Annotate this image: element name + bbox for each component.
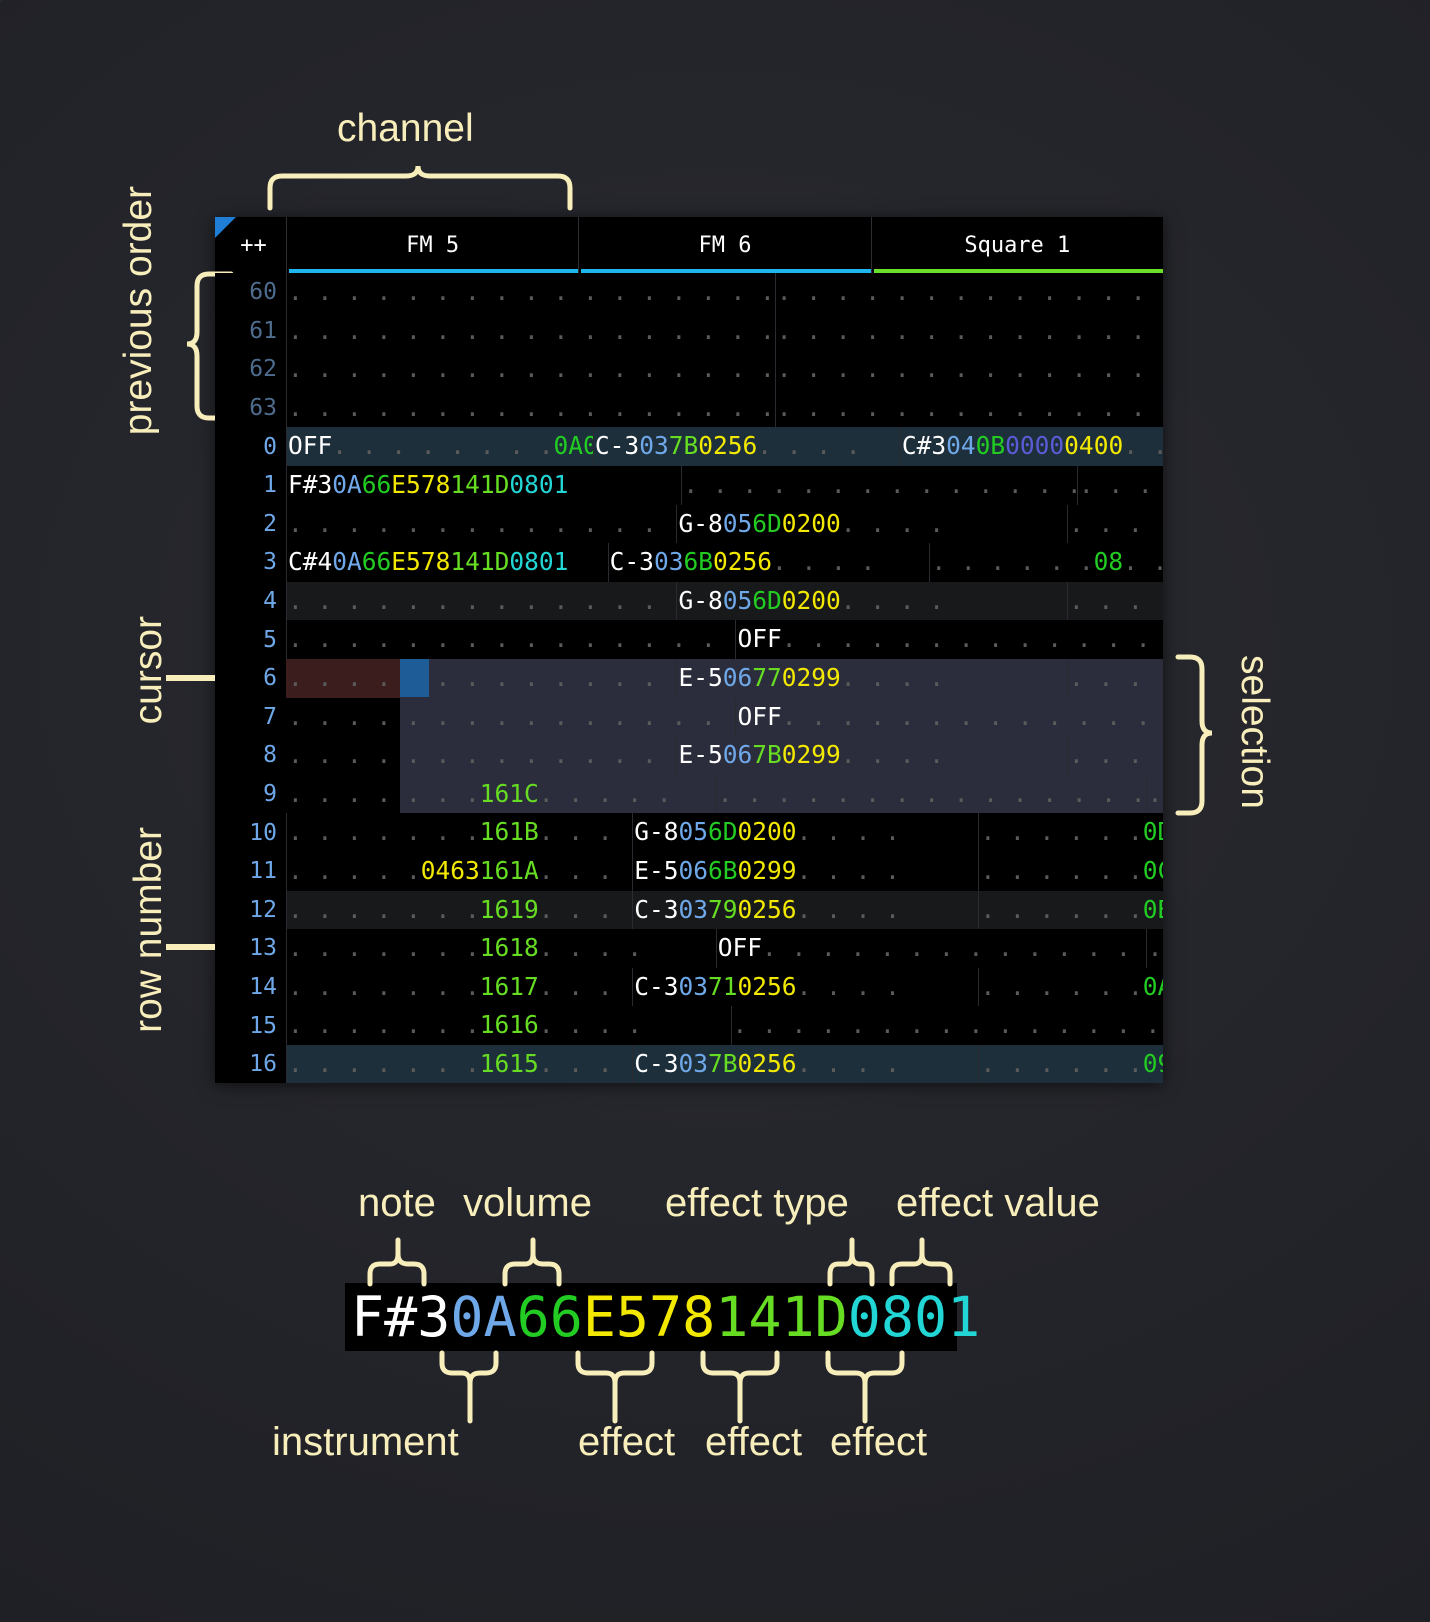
channel-cell-3[interactable]: . . . . . .09. . . . . . . . [978,1045,1163,1083]
cell-segment-ins: 0A [332,547,362,576]
channel-cell-3[interactable]: . . . . . .0A. . . . . . . . [1077,466,1163,505]
row-number: 6 [215,659,286,698]
row-cells: . . . . . . .1616. . . .. . . . . . . . … [286,1006,1163,1045]
cell-text: C#3040B00000400. . . . [901,434,1163,459]
cell-segment-dim: . . . . . . . . . . . . . . . . . [288,586,676,615]
cell-segment-note: C-3 [634,972,678,1001]
channel-cell-1[interactable]: OFF. . . . . . . .0A00 [286,427,593,466]
legend-segment-6: 1D [782,1285,848,1349]
channel-cell-2[interactable]: . . . . . . . . . . . . . . . . . [681,466,1076,505]
channel-cell-1[interactable]: . . . . . . .1617. . . . [286,968,632,1007]
cell-segment-dim: . . . . . . . [288,779,480,808]
cell-text: F#30A66E578141D0801 [287,473,568,498]
row-cells: . . . . . . . . . . . . . . . . .G-8056D… [286,582,1163,621]
channel-cell-3[interactable]: . . . . . .0C. . . . . . . . [978,852,1163,891]
cell-segment-fx2: 161C [480,779,539,808]
corner-label: ++ [240,233,267,258]
channel-cell-2[interactable]: OFF. . . . . . . . . . . . . . [716,929,1146,968]
cell-segment-dim: . . . . . . . . . . . . . . [762,933,1146,962]
cell-text: . . . . . . . . . . . . . . . . . [287,512,676,537]
cell-text: . . . . . . .1615. . . . [287,1052,632,1077]
channel-cell-1[interactable]: . . . . . . . . . . . . . . . . . [286,582,676,621]
channel-cell-3[interactable]: . . . . . . . . . . . . . . . . . [1146,929,1163,968]
row-cells: . . . . . . .1619. . . .C-303790256. . .… [286,891,1163,930]
cell-segment-dim: . . . . . . . . . . . . . . . . . [718,779,1146,808]
row-number: 4 [215,582,286,621]
row-cells: . . . . . . . . . . . . . . . . .. . . .… [286,273,1163,312]
channel-cell-2[interactable]: G-8056D0200. . . . [676,505,1066,544]
channel-header-3[interactable]: Square 1 [871,217,1163,273]
row-cells: OFF. . . . . . . .0A00C-3037B0256. . . .… [286,427,1163,466]
cell-segment-dim: . . . . [539,895,632,924]
channel-cell-2[interactable]: OFF. . . . . . . . . . . . . . [735,698,1163,737]
channel-cell-1[interactable]: . . . . . . . . . . . . . . . . . [286,273,775,312]
cell-segment-fx2: 14 [450,547,480,576]
cell-segment-fx1: 99 [767,856,797,885]
pattern-row[interactable]: 8. . . . . . . . . . . . . . . . .E-5067… [215,736,1163,775]
cell-segment-fx1: 56 [767,972,797,1001]
channel-cell-2[interactable]: C-3036B0256. . . . [608,543,930,582]
cell-segment-fx3: 08 [509,470,539,499]
cell-segment-vol: 0C [1143,856,1163,885]
cell-segment-fx3: 01 [539,547,569,576]
channel-cell-2[interactable]: . . . . . . . . . . . . . . . . . [731,1006,1163,1045]
pattern-row[interactable]: 16. . . . . . .1615. . . .C-3037B0256. .… [215,1045,1163,1083]
cell-segment-fx1: 02 [738,817,768,846]
cell-segment-dim: . . . . . . . . . . . . . . [782,624,1163,653]
channel-cell-3[interactable]: . . . . . .07. . . . . . . . [1067,582,1163,621]
pattern-row[interactable]: 7. . . . . . . . . . . . . . . . .OFF. .… [215,698,1163,737]
cell-segment-dim: . . . . . . . . . . . . . . . . . [683,470,1076,499]
pattern-row[interactable]: 9. . . . . . .161C. . . . .. . . . . . .… [215,775,1163,814]
cell-text: . . . . . .0C. . . . . . . . [1147,782,1163,807]
row-number: 2 [215,505,286,544]
channel-cell-3[interactable]: . . . . . .090464. . . . . . [1067,659,1163,698]
cell-segment-note: C-3 [634,895,678,924]
cell-segment-fx1: 00 [1094,431,1124,460]
pattern-row[interactable]: 11. . . . .0463161A. . . .E-5066B0299. .… [215,852,1163,891]
cell-segment-dim: . . . . . . . . . . . . . . . . . [288,316,775,345]
annotation-channel: channel [337,107,474,151]
cell-segment-dim: . . . . . . . . . . . . . . . . . [288,702,735,731]
channel-cell-3[interactable]: . . . . . .0D. . . . . . . . [978,813,1163,852]
channel-cell-3[interactable]: . . . . . .0B. . . . . . . . [978,891,1163,930]
cell-segment-note: G-8 [678,586,722,615]
cell-segment-fx1: 56 [728,431,758,460]
cell-segment-dim: . . . . . . [980,972,1142,1001]
row-cells: . . . . . . .161C. . . . .. . . . . . . … [286,775,1163,814]
cell-text: . . . . . . . . . . . . . . . . . [1147,936,1163,961]
legend-label-effect-type: effect type [665,1181,849,1226]
cell-segment-note: G-8 [678,509,722,538]
cell-text: . . . . . . . . . . . . . . . . . [717,782,1146,807]
cell-segment-note: OFF [737,624,781,653]
cell-segment-note: OFF [288,431,332,460]
channel-cell-2[interactable]: OFF. . . . . . . . . . . . . . [735,620,1163,659]
channel-cell-2[interactable]: . . . . . . . . . . . . . . . . . [775,350,1163,389]
cell-segment-dim: . . . . . . . [288,817,480,846]
pattern-editor[interactable]: ++ FM 5FM 6Square 1 60. . . . . . . . . … [215,217,1163,1083]
cell-segment-fx1: 02 [738,972,768,1001]
row-number: 61 [215,312,286,351]
cell-segment-dim: . . . . [539,817,632,846]
pattern-corner-toggle[interactable]: ++ [215,217,286,273]
channel-cell-3[interactable]: . . . . . .0B. . . . . . . . [1067,736,1163,775]
channel-cell-1[interactable]: . . . . . . . . . . . . . . . . . [286,312,775,351]
cell-segment-note: F#3 [288,470,332,499]
legend-label-instrument: instrument [272,1420,459,1465]
cell-segment-vol: 0B [1143,895,1163,924]
channel-cell-3[interactable]: . . . . . .0C. . . . . . . . [1146,775,1163,814]
cell-text: . . . . .0463161A. . . . [287,859,632,884]
cell-segment-dim: . . . . . . . [288,933,480,962]
channel-cell-2[interactable]: C-3037B0256. . . . [593,427,900,466]
cell-segment-fx3: 01 [539,470,569,499]
channel-cell-1[interactable]: . . . . . . . . . . . . . . . . . [286,389,775,428]
row-number: 11 [215,852,286,891]
cell-text: . . . . . . . . . . . . . . . . . [682,473,1076,498]
cell-segment-fx1: 02 [698,431,728,460]
channel-cell-2[interactable]: E-5066B0299. . . . [632,852,978,891]
row-cells: . . . . .0463161A. . . .E-5066B0299. . .… [286,852,1163,891]
cell-segment-ins: 0A [332,470,362,499]
channel-cell-3[interactable]: . . . . . .0A. . . . . . . . [978,968,1163,1007]
cell-segment-dim: . . . . . . . . . . . . . . . . . [288,354,775,383]
pattern-row[interactable]: 6. . . . . . . . . . . . . . . . .E-5067… [215,659,1163,698]
cell-segment-dim: . . . . . . [1069,586,1163,615]
row-number: 8 [215,736,286,775]
cell-segment-dim: . . . . . . . . . . . . . . . . . [777,277,1163,306]
legend-label-effect-1: effect [578,1420,675,1465]
cell-segment-fx1: 78 [421,547,451,576]
cell-text: . . . . . . . . . . . . . . . . . [287,396,775,421]
cell-segment-dim: . . . . . . . . . . . . . . . . . [777,354,1163,383]
pattern-row[interactable]: 12. . . . . . .1619. . . .C-303790256. .… [215,891,1163,930]
brace-instrument [440,1351,498,1423]
pattern-rows[interactable]: 60. . . . . . . . . . . . . . . . .. . .… [215,273,1163,1083]
row-number: 15 [215,1006,286,1045]
cell-segment-dim: . . . . . . . [288,895,480,924]
cell-text: . . . . . . .1616. . . . [287,1013,642,1038]
pattern-row[interactable]: 15. . . . . . .1616. . . .. . . . . . . … [215,1006,1163,1045]
cell-segment-note: E-5 [634,856,678,885]
channel-cell-2[interactable]: . . . . . . . . . . . . . . . . . [716,775,1146,814]
cell-text: OFF. . . . . . . .0A00 [287,434,593,459]
legend-label-note: note [358,1181,436,1226]
cell-text: . . . . . . . . . . . . . . . . . [287,319,775,344]
cell-segment-dim: . . . . . . . . . . . . . . . . . [1148,933,1163,962]
row-number: 12 [215,891,286,930]
legend-label-effect-3: effect [830,1420,927,1465]
cell-segment-dim: . . . . [539,856,632,885]
cell-text: . . . . . . .1618. . . . [287,936,642,961]
cell-text: . . . . . . . . . . . . . . . . . [776,396,1163,421]
row-cells: . . . . . . . . . . . . . . . . .. . . .… [286,312,1163,351]
cell-segment-fx1: 00 [811,586,841,615]
cell-segment-fx2: 1D [480,547,510,576]
row-number: 1 [215,466,286,505]
row-number: 62 [215,350,286,389]
channel-cell-1[interactable]: . . . . . . .161C. . . . . [286,775,716,814]
cell-segment-fx1: 0463 [421,856,480,885]
pattern-row[interactable]: 3C#40A66E578141D0801C-3036B0256. . . .. … [215,543,1163,582]
pattern-row[interactable]: 62. . . . . . . . . . . . . . . . .. . .… [215,350,1163,389]
cell-segment-fx2: 1D [480,470,510,499]
row-number: 0 [215,427,286,466]
cell-text: . . . . . .0D. . . . . . . . [979,820,1163,845]
channel-cell-3[interactable]: . . . . . .08. . . . . . . . [929,543,1163,582]
channel-cell-1[interactable]: . . . . . . . . . . . . . . . . . [286,350,775,389]
cell-segment-dim: . . . . [539,972,632,1001]
brace-selection [1176,655,1224,815]
pattern-row[interactable]: 1F#30A66E578141D0801. . . . . . . . . . … [215,466,1163,505]
cell-text: . . . . . . .161C. . . . . [287,782,672,807]
cell-text: C#40A66E578141D0801 [287,550,568,575]
cell-segment-vol: 0D [1143,817,1163,846]
channel-cell-2[interactable]: C-3037B0256. . . . [632,1045,978,1083]
cell-text: OFF. . . . . . . . . . . . . . [736,705,1163,730]
cell-segment-dim: . . . . . . . . . . . . . . . . . [733,1010,1163,1039]
cell-segment-dim: . . . . . . [1069,740,1163,769]
channel-cell-1[interactable]: . . . . .0463161A. . . . [286,852,632,891]
pattern-row[interactable]: 2. . . . . . . . . . . . . . . . .G-8056… [215,505,1163,544]
cell-segment-vol: 6D [752,586,782,615]
cell-text: . . . . . . .1619. . . . [287,898,632,923]
channel-cell-1[interactable]: . . . . . . . . . . . . . . . . . [286,698,735,737]
cell-segment-note: C#3 [902,431,946,460]
cell-segment-fx1: 02 [738,895,768,924]
cell-text: G-8056D0200. . . . [677,512,944,537]
row-cells: . . . . . . .1615. . . .C-3037B0256. . .… [286,1045,1163,1083]
pattern-row[interactable]: 4. . . . . . . . . . . . . . . . .G-8056… [215,582,1163,621]
cell-segment-fx2: 79 [708,895,738,924]
legend-segment-2: 66 [517,1285,583,1349]
cell-segment-dim: . . . . . . . . . . . . . . . . . [288,663,676,692]
cell-text: . . . . . . . . . . . . . . . . . [287,666,676,691]
cell-segment-dim: . . . . [757,431,860,460]
cell-segment-note: OFF [718,933,762,962]
row-cells: . . . . . . .161B. . . .G-8056D0200. . .… [286,813,1163,852]
row-cells: C#40A66E578141D0801C-3036B0256. . . .. .… [286,543,1163,582]
channel-cell-1[interactable]: . . . . . . .1615. . . . [286,1045,632,1083]
channel-cell-2[interactable]: G-8056D0200. . . . [632,813,978,852]
row-number: 63 [215,389,286,428]
cell-text: E-5067B0299. . . . [677,743,944,768]
cell-segment-ins: 03 [679,1049,709,1078]
pattern-row[interactable]: 10. . . . . . .161B. . . .G-8056D0200. .… [215,813,1163,852]
cell-text: C-3036B0256. . . . [609,550,876,575]
pattern-row[interactable]: 60. . . . . . . . . . . . . . . . .. . .… [215,273,1163,312]
cell-segment-fx1: 02 [738,1049,768,1078]
cell-text: . . . . . .0A. . . . . . . . [979,975,1163,1000]
cell-segment-fx2: 71 [708,972,738,1001]
cell-text: E-506770299. . . . [677,666,944,691]
cell-segment-dim: . . . . . . . . . . . . . . . . . [777,393,1163,422]
legend-label-effect-value: effect value [896,1181,1100,1226]
legend-segment-7: 08 [848,1285,914,1349]
channel-cell-1[interactable]: . . . . . . .161B. . . . [286,813,632,852]
cell-segment-dim: . . . . . . . . . . . . . . . . . [288,740,676,769]
cell-segment-fx2: 1616 [480,1010,539,1039]
cell-segment-fx2: 7B [708,1049,738,1078]
cell-segment-vol: 0A [554,431,584,460]
cell-segment-dim: . . . . . [539,779,672,808]
cell-segment-note: G-8 [634,817,678,846]
legend-segment-1: 0A [450,1285,516,1349]
cell-segment-dim: . . . . . . [1069,509,1163,538]
cell-text: . . . . . .0A. . . . . . . . [1078,473,1163,498]
cell-segment-vol: 0A [1143,972,1163,1001]
channel-cell-3[interactable]: C#3040B00000400. . . . [900,427,1163,466]
cell-segment-dim: . . . . [539,1049,632,1078]
legend-segment-0: F#3 [351,1285,450,1349]
channel-cell-1[interactable]: . . . . . . .1618. . . . [286,929,716,968]
cell-segment-ins: 05 [723,509,753,538]
cell-segment-fx2: 7B [752,740,782,769]
cell-segment-note: E-5 [678,663,722,692]
brace-channel [268,160,572,210]
cell-text: . . . . . .09. . . . . . . . [1068,512,1163,537]
cell-segment-vol: 0B [976,431,1006,460]
cell-text: . . . . . . . . . . . . . . . . . [287,705,735,730]
channel-header-row: ++ FM 5FM 6Square 1 [215,217,1163,273]
channel-cell-2[interactable]: G-8056D0200. . . . [676,582,1066,621]
legend-row-sample: F#30A66E578141D0801 [345,1283,957,1351]
cell-segment-fx1: 02 [782,509,812,538]
channel-cell-1[interactable]: . . . . . . . . . . . . . . . . . [286,505,676,544]
channel-header-2[interactable]: FM 6 [578,217,870,273]
cell-segment-dim: . . . . [539,933,642,962]
pattern-row[interactable]: 61. . . . . . . . . . . . . . . . .. . .… [215,312,1163,351]
annotation-selection: selection [1232,655,1276,809]
cell-segment-fx1: 02 [782,663,812,692]
channel-cell-1[interactable]: . . . . . . .1619. . . . [286,891,632,930]
cell-segment-fx1: 04 [1064,431,1094,460]
cell-segment-ins: 03 [679,972,709,1001]
cell-segment-dim: . . . . . . . [288,1010,480,1039]
cell-text: . . . . . .07. . . . . . . . [1068,589,1163,614]
cell-segment-fx3: 08 [509,547,539,576]
cell-segment-dim: . . . . [797,972,900,1001]
cell-segment-ins: 06 [679,856,709,885]
channel-cell-1[interactable]: F#30A66E578141D0801 [286,466,681,505]
row-number: 16 [215,1045,286,1083]
row-cells: . . . . . . . . . . . . . . . . .E-5067B… [286,736,1163,775]
legend-segment-5: 14 [715,1285,781,1349]
cell-segment-fx2: 1615 [480,1049,539,1078]
row-cells: . . . . . . . . . . . . . . . . .OFF. . … [286,620,1163,659]
channel-cell-1[interactable]: . . . . . . . . . . . . . . . . . [286,620,735,659]
channel-cell-3[interactable]: . . . . . .09. . . . . . . . [1067,505,1163,544]
cell-text: G-8056D0200. . . . [677,589,944,614]
legend-label-effect-2: effect [705,1420,802,1465]
pattern-row[interactable]: 14. . . . . . .1617. . . .C-303710256. .… [215,968,1163,1007]
channel-cell-2[interactable]: . . . . . . . . . . . . . . . . . [775,389,1163,428]
cell-segment-fx2: 1618 [480,933,539,962]
row-number: 5 [215,620,286,659]
channel-cell-1[interactable]: C#40A66E578141D0801 [286,543,608,582]
cell-segment-dim: . . . . [841,740,944,769]
cell-segment-dim: . . . . [539,1010,642,1039]
corner-triangle-icon [215,217,236,238]
cell-text: . . . . . . . . . . . . . . . . . [287,627,735,652]
row-number: 9 [215,775,286,814]
channel-cell-2[interactable]: . . . . . . . . . . . . . . . . . [775,273,1163,312]
cell-segment-vol: 66 [362,470,392,499]
cell-segment-note: C#4 [288,547,332,576]
channel-header-1[interactable]: FM 5 [286,217,578,273]
pattern-row[interactable]: 0OFF. . . . . . . .0A00C-3037B0256. . . … [215,427,1163,466]
pattern-row[interactable]: 63. . . . . . . . . . . . . . . . .. . .… [215,389,1163,428]
row-cells: . . . . . . .1618. . . .OFF. . . . . . .… [286,929,1163,968]
cell-segment-dim: . . . . . . [931,547,1093,576]
cell-segment-dim: . . . . [797,895,900,924]
cell-segment-fx1: 02 [713,547,743,576]
cell-segment-dim: . . . . . . [980,1049,1142,1078]
cell-segment-fx2: 14 [450,470,480,499]
cell-segment-ins: 05 [723,586,753,615]
cell-segment-dim: . . . . . . . . . . . . . . . . . [288,393,775,422]
brace-effect-1 [576,1351,654,1423]
row-cells: . . . . . . . . . . . . . . . . .OFF. . … [286,698,1163,737]
cell-segment-fx1: 02 [782,740,812,769]
legend-label-volume: volume [463,1181,592,1226]
cell-segment-ins: 03 [639,431,669,460]
channel-cell-2[interactable]: C-303790256. . . . [632,891,978,930]
row-number: 14 [215,968,286,1007]
cell-segment-dim: . . . . . . . . . . . . . . . . . [777,316,1163,345]
cell-text: . . . . . . .161B. . . . [287,820,632,845]
cell-segment-pan: 00 [1035,431,1065,460]
cell-segment-dim: . . . . . . . . . . . . . . . . . [288,509,676,538]
cell-segment-dim: . . . . . . [1148,779,1163,808]
cell-segment-dim: . . . . . . . . . . . . . . [782,702,1163,731]
channel-name: FM 5 [406,233,459,258]
channel-cell-2[interactable]: E-5067B0299. . . . [676,736,1066,775]
brace-effect-2 [701,1351,779,1423]
cell-text: . . . . . .0B. . . . . . . . [1068,743,1163,768]
cell-text: . . . . . . . . . . . . . . . . . [287,589,676,614]
cell-segment-fx2: 1619 [480,895,539,924]
cell-text: . . . . . . . . . . . . . . . . . [776,357,1163,382]
edit-cursor[interactable] [400,659,429,697]
cell-segment-ins: 06 [723,663,753,692]
channel-cell-2[interactable]: . . . . . . . . . . . . . . . . . [775,312,1163,351]
cell-text: . . . . . .0B. . . . . . . . [979,898,1163,923]
legend-segment-3: E5 [583,1285,649,1349]
cell-segment-dim: . . . . . . [980,817,1142,846]
cell-text: . . . . . . . . . . . . . . . . . [287,743,676,768]
channel-cell-2[interactable]: C-303710256. . . . [632,968,978,1007]
legend-segment-4: 78 [649,1285,715,1349]
cell-text: G-8056D0200. . . . [633,820,900,845]
channel-cell-1[interactable]: . . . . . . . . . . . . . . . . . [286,659,676,698]
cell-text: . . . . . . . . . . . . . . . . . [776,319,1163,344]
channel-cell-2[interactable]: E-506770299. . . . [676,659,1066,698]
cell-segment-dim: . . . . [797,1049,900,1078]
cell-segment-fx1: 02 [738,856,768,885]
channel-cell-1[interactable]: . . . . . . . . . . . . . . . . . [286,736,676,775]
pattern-row[interactable]: 13. . . . . . .1618. . . .OFF. . . . . .… [215,929,1163,968]
cell-segment-fx1: 78 [421,470,451,499]
cell-segment-dim: . . . . [772,547,875,576]
cell-segment-ins: 03 [654,547,684,576]
pattern-row[interactable]: 5. . . . . . . . . . . . . . . . .OFF. .… [215,620,1163,659]
cell-segment-vol: 6D [708,817,738,846]
cell-segment-fx1: 56 [742,547,772,576]
cell-segment-fx2: 1617 [480,972,539,1001]
channel-cell-1[interactable]: . . . . . . .1616. . . . [286,1006,731,1045]
